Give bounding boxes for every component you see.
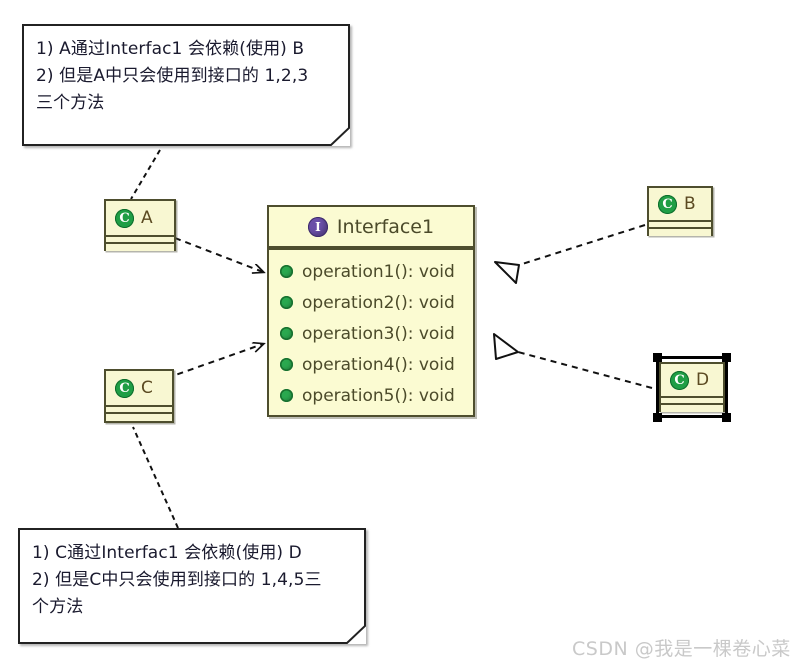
note-top[interactable]: 1) A通过Interfac1 会依赖(使用) B 2) 但是A中只会使用到接口… — [22, 24, 350, 146]
realization-arrowhead-d — [494, 334, 518, 359]
class-b-operations-compartment — [649, 229, 711, 236]
operation-label: operation1(): void — [302, 262, 455, 282]
interface-header: I Interface1 — [269, 207, 473, 248]
operation-label: operation5(): void — [302, 386, 455, 406]
interface-icon: I — [308, 217, 328, 237]
selection-frame-right — [725, 360, 728, 414]
edge-a-to-interface — [175, 238, 263, 272]
selection-handle-bottom-right[interactable] — [722, 413, 731, 422]
interface-name: Interface1 — [337, 216, 434, 238]
operation-label: operation3(): void — [302, 324, 455, 344]
selection-handle-bottom-left[interactable] — [653, 413, 662, 422]
class-node-c[interactable]: C C — [104, 369, 174, 423]
class-b-header: C B — [649, 188, 711, 222]
class-node-d[interactable]: C D — [659, 362, 725, 412]
selection-frame-bottom — [661, 415, 723, 418]
interface-node-interface1[interactable]: I Interface1 operation1(): void operatio… — [267, 205, 475, 417]
note-top-line-1: 1) A通过Interfac1 会依赖(使用) B — [36, 36, 336, 63]
note-top-line-3: 三个方法 — [36, 90, 336, 117]
realization-arrowhead-b — [495, 262, 519, 283]
operation-row[interactable]: operation3(): void — [269, 318, 473, 349]
class-b-name: B — [684, 194, 696, 214]
edge-b-to-interface — [519, 225, 645, 265]
class-b-attributes-compartment — [649, 222, 711, 229]
operation-label: operation4(): void — [302, 355, 455, 375]
class-c-header: C C — [106, 371, 172, 407]
note-top-text: 1) A通过Interfac1 会依赖(使用) B 2) 但是A中只会使用到接口… — [36, 36, 336, 117]
class-icon: C — [670, 371, 689, 390]
edge-note-top-to-a — [131, 150, 160, 199]
class-a-attributes-compartment — [106, 237, 174, 244]
note-top-line-2: 2) 但是A中只会使用到接口的 1,2,3 — [36, 63, 336, 90]
selection-handle-top-left[interactable] — [653, 353, 662, 362]
class-a-operations-compartment — [106, 244, 174, 251]
note-bottom-text: 1) C通过Interfac1 会依赖(使用) D 2) 但是C中只会使用到接口… — [32, 540, 352, 621]
selection-frame-left — [656, 360, 659, 414]
operation-row[interactable]: operation5(): void — [269, 380, 473, 411]
public-visibility-icon — [280, 358, 293, 371]
public-visibility-icon — [280, 327, 293, 340]
note-bottom-line-3: 个方法 — [32, 594, 352, 621]
operation-row[interactable]: operation2(): void — [269, 287, 473, 318]
operation-label: operation2(): void — [302, 293, 455, 313]
class-a-name: A — [141, 208, 153, 228]
class-icon: C — [115, 379, 134, 398]
selection-frame-top — [661, 356, 723, 359]
note-bottom[interactable]: 1) C通过Interfac1 会依赖(使用) D 2) 但是C中只会使用到接口… — [18, 528, 366, 644]
class-icon: C — [658, 195, 677, 214]
class-c-name: C — [141, 378, 153, 398]
public-visibility-icon — [280, 296, 293, 309]
class-node-b[interactable]: C B — [647, 186, 713, 236]
edge-note-bottom-to-c — [133, 427, 178, 528]
class-a-header: C A — [106, 201, 174, 237]
operation-row[interactable]: operation4(): void — [269, 349, 473, 380]
diagram-canvas: 1) A通过Interfac1 会依赖(使用) B 2) 但是A中只会使用到接口… — [0, 0, 792, 668]
class-d-name: D — [696, 370, 709, 390]
public-visibility-icon — [280, 265, 293, 278]
note-bottom-line-1: 1) C通过Interfac1 会依赖(使用) D — [32, 540, 352, 567]
class-node-a[interactable]: C A — [104, 199, 176, 251]
class-d-header: C D — [661, 364, 723, 398]
class-c-attributes-compartment — [106, 407, 172, 414]
edge-c-to-interface — [167, 344, 263, 378]
class-d-attributes-compartment — [661, 398, 723, 405]
class-d-operations-compartment — [661, 405, 723, 412]
selection-handle-top-right[interactable] — [722, 353, 731, 362]
class-c-operations-compartment — [106, 414, 172, 421]
edge-d-to-interface — [518, 352, 652, 388]
public-visibility-icon — [280, 389, 293, 402]
watermark: CSDN @我是一棵卷心菜 — [572, 634, 791, 661]
interface-operations-compartment: operation1(): void operation2(): void op… — [269, 248, 473, 418]
note-bottom-line-2: 2) 但是C中只会使用到接口的 1,4,5三 — [32, 567, 352, 594]
class-icon: C — [115, 209, 134, 228]
operation-row[interactable]: operation1(): void — [269, 256, 473, 287]
